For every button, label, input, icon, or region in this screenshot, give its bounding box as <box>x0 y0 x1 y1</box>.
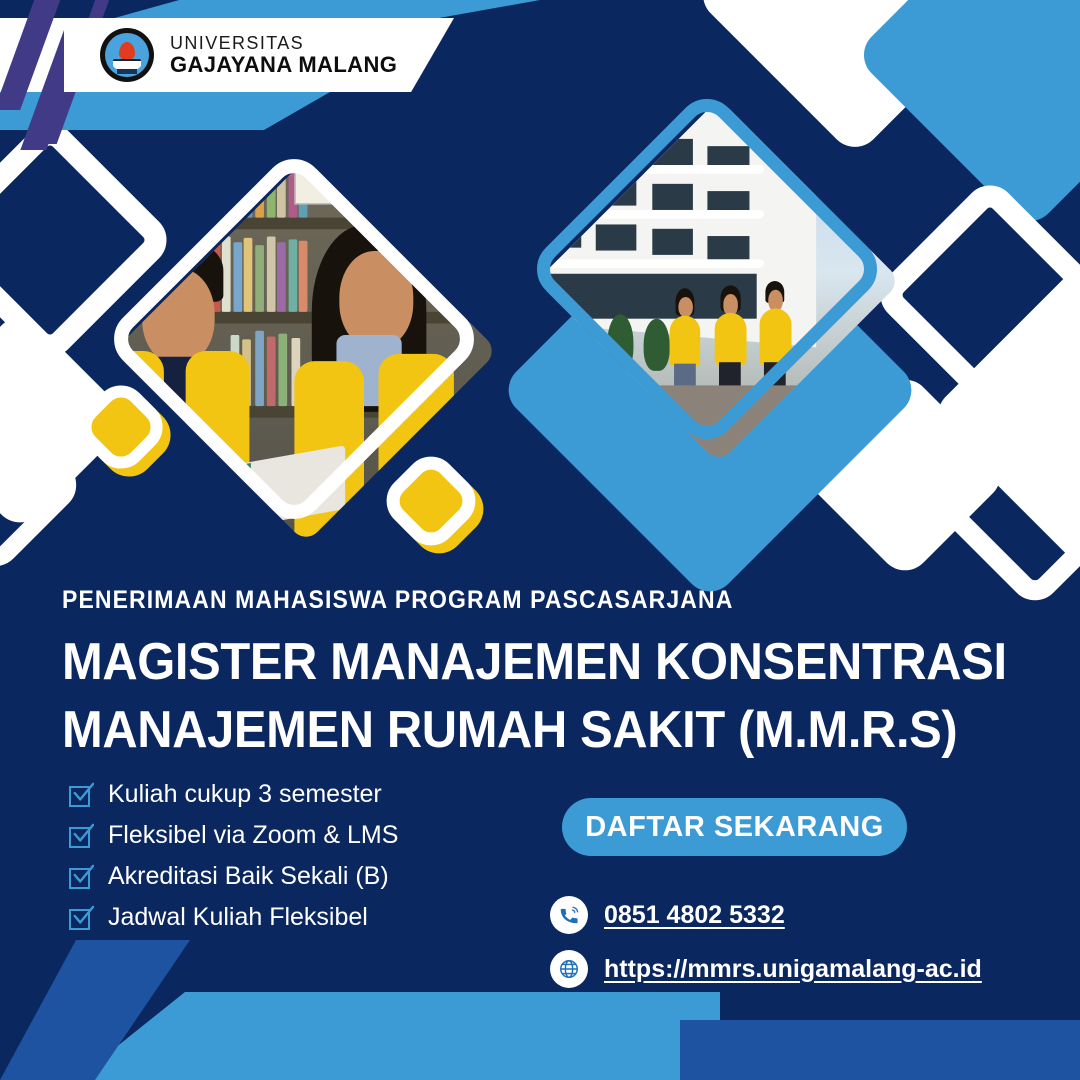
footer-band-medium <box>680 1020 1080 1080</box>
globe-icon <box>550 950 588 988</box>
checkbox-checked-icon <box>68 782 94 808</box>
list-item: Fleksibel via Zoom & LMS <box>68 821 398 850</box>
benefit-label: Fleksibel via Zoom & LMS <box>108 821 398 850</box>
benefit-label: Jadwal Kuliah Fleksibel <box>108 903 368 932</box>
contact-website[interactable]: https://mmrs.unigamalang-ac.id <box>550 950 982 988</box>
list-item: Akreditasi Baik Sekali (B) <box>68 862 398 891</box>
university-name-line2: GAJAYANA MALANG <box>170 53 397 76</box>
phone-number[interactable]: 0851 4802 5332 <box>604 901 785 930</box>
benefit-label: Akreditasi Baik Sekali (B) <box>108 862 389 891</box>
decor-diamond-outline-yellow-lower-frame <box>376 446 486 556</box>
list-item: Jadwal Kuliah Fleksibel <box>68 903 398 932</box>
benefit-label: Kuliah cukup 3 semester <box>108 780 382 809</box>
website-url[interactable]: https://mmrs.unigamalang-ac.id <box>604 955 982 984</box>
university-header-banner: UNIVERSITAS GAJAYANA MALANG <box>64 18 454 92</box>
headline-line-1: MAGISTER MANAJEMEN KONSENTRASI <box>62 632 1007 692</box>
kicker-text: PENERIMAAN MAHASISWA PROGRAM PASCASARJAN… <box>62 586 733 615</box>
checkbox-checked-icon <box>68 864 94 890</box>
list-item: Kuliah cukup 3 semester <box>68 780 398 809</box>
contact-phone[interactable]: 0851 4802 5332 <box>550 896 785 934</box>
headline-line-2: MANAJEMEN RUMAH SAKIT (M.M.R.S) <box>62 700 957 760</box>
university-crest-icon <box>100 28 154 82</box>
benefits-list: Kuliah cukup 3 semester Fleksibel via Zo… <box>68 780 398 932</box>
phone-icon <box>550 896 588 934</box>
checkbox-checked-icon <box>68 823 94 849</box>
poster-root: UNIVERSITAS GAJAYANA MALANG PENERIMAAN M… <box>0 0 1080 1080</box>
checkbox-checked-icon <box>68 905 94 931</box>
register-now-button[interactable]: DAFTAR SEKARANG <box>562 798 907 856</box>
university-name-line1: UNIVERSITAS <box>170 34 397 53</box>
register-now-label: DAFTAR SEKARANG <box>585 811 884 844</box>
